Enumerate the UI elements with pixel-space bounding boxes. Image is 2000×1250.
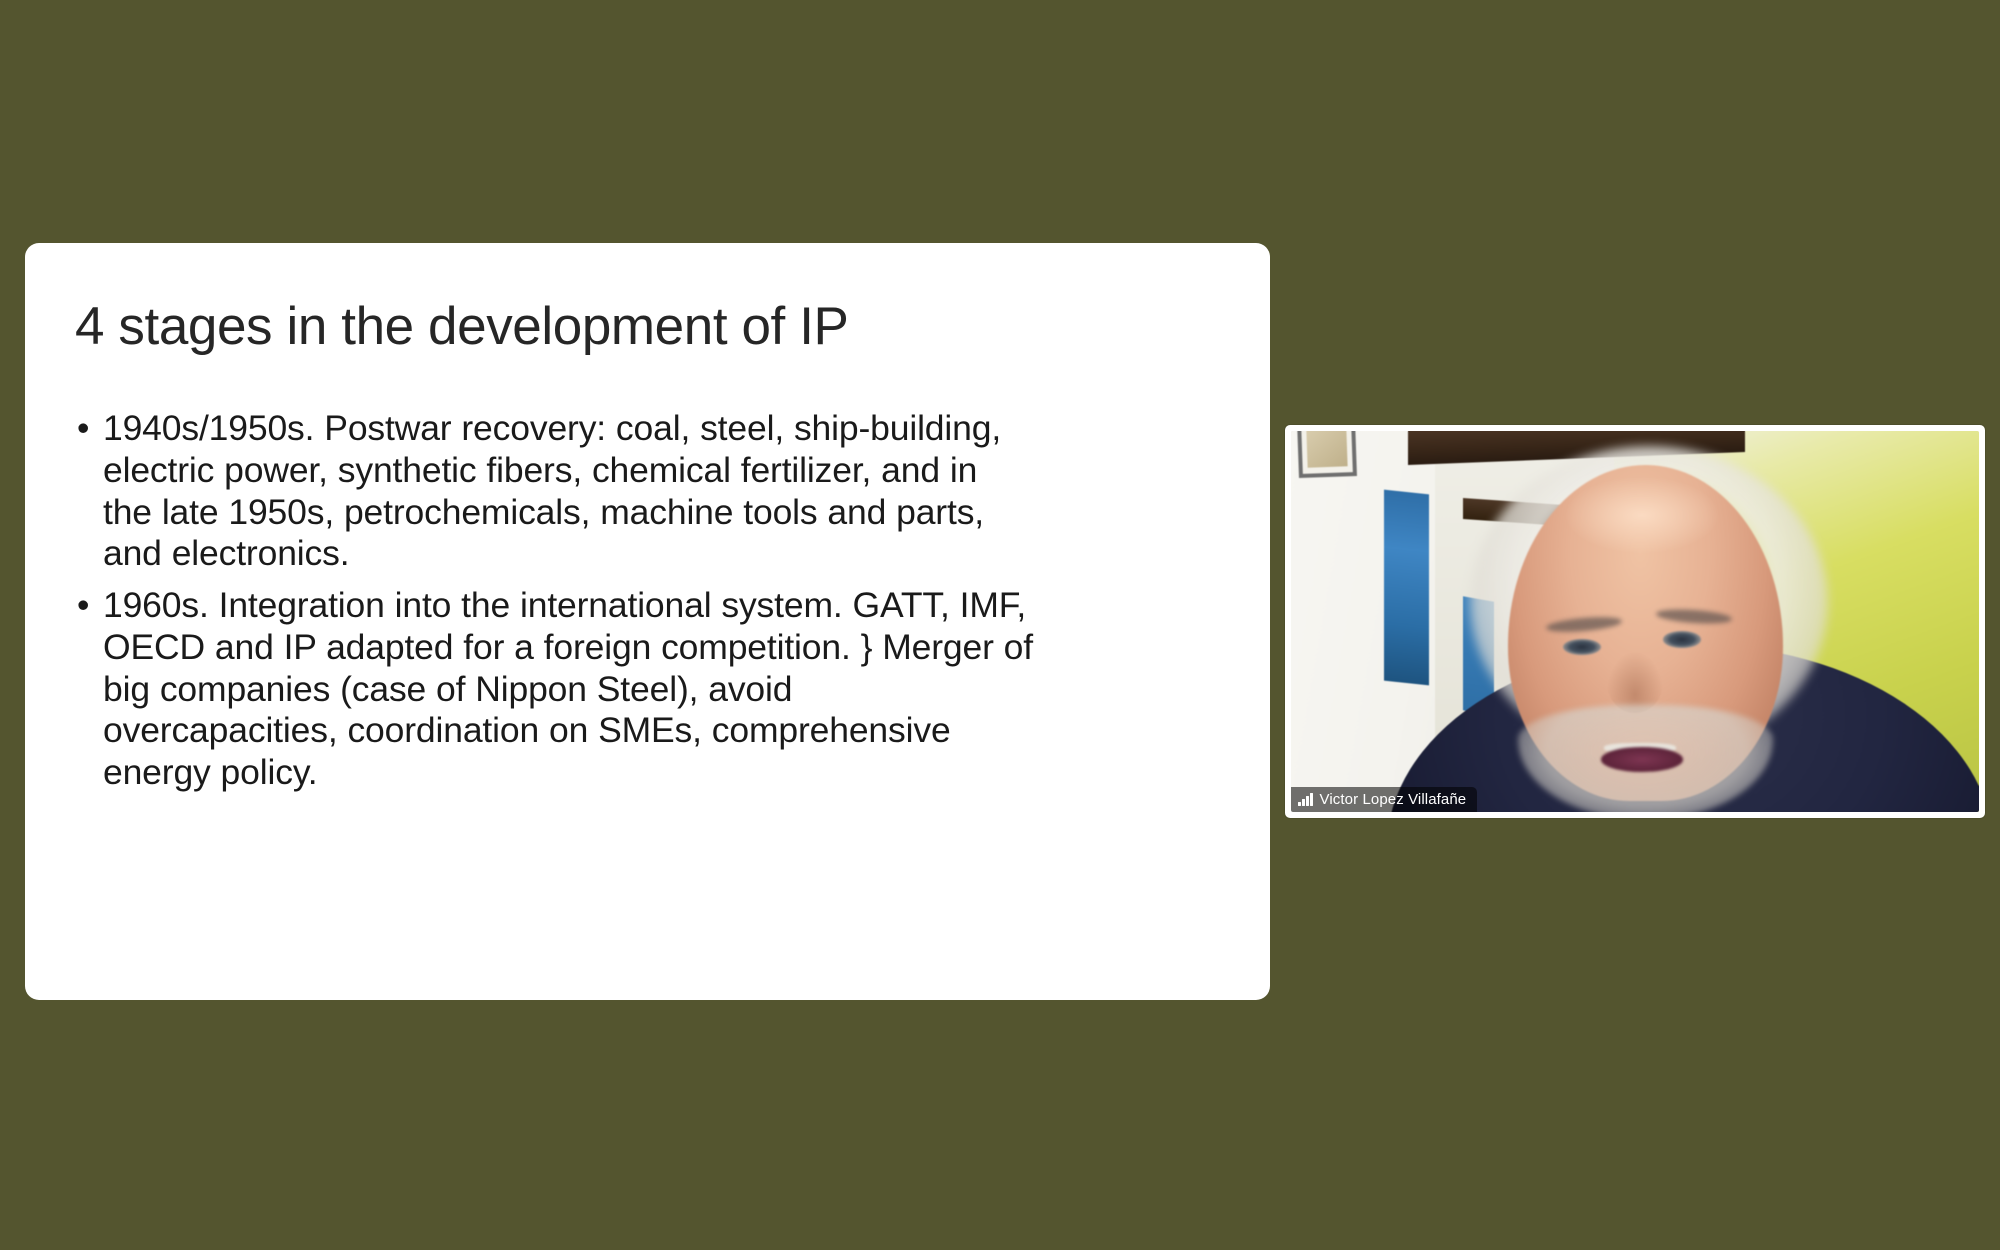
bullet-text: 1940s/1950s. Postwar recovery: coal, ste… <box>103 408 1001 573</box>
webcam-video-feed[interactable]: Victor Lopez Villafañe <box>1291 431 1979 812</box>
slide-title: 4 stages in the development of IP <box>75 298 1248 356</box>
slide-bullet-item: • 1960s. Integration into the internatio… <box>75 585 1035 794</box>
webcam-scene <box>1291 431 1979 812</box>
forehead-highlight <box>1566 477 1717 553</box>
bullet-marker-icon: • <box>77 408 89 450</box>
bullet-marker-icon: • <box>77 585 89 627</box>
screen-share-stage: 4 stages in the development of IP • 1940… <box>0 0 2000 1250</box>
bullet-text: 1960s. Integration into the internationa… <box>103 585 1033 792</box>
nose <box>1607 652 1662 713</box>
slide-bullet-list: • 1940s/1950s. Postwar recovery: coal, s… <box>75 408 1248 793</box>
signal-bars-icon <box>1298 793 1313 806</box>
participant-name-badge: Victor Lopez Villafañe <box>1291 787 1477 812</box>
mouth <box>1601 747 1684 772</box>
window-shutter <box>1384 490 1429 685</box>
wall-picture-frame <box>1297 431 1357 478</box>
participant-name-label: Victor Lopez Villafañe <box>1320 791 1467 808</box>
eye-right <box>1663 631 1702 648</box>
slide-content: 4 stages in the development of IP • 1940… <box>75 298 1248 980</box>
participant-video-tile[interactable]: Victor Lopez Villafañe <box>1285 425 1985 818</box>
presentation-slide[interactable]: 4 stages in the development of IP • 1940… <box>25 243 1270 1000</box>
wall-picture-canvas <box>1306 431 1348 468</box>
slide-bullet-item: • 1940s/1950s. Postwar recovery: coal, s… <box>75 408 1035 575</box>
